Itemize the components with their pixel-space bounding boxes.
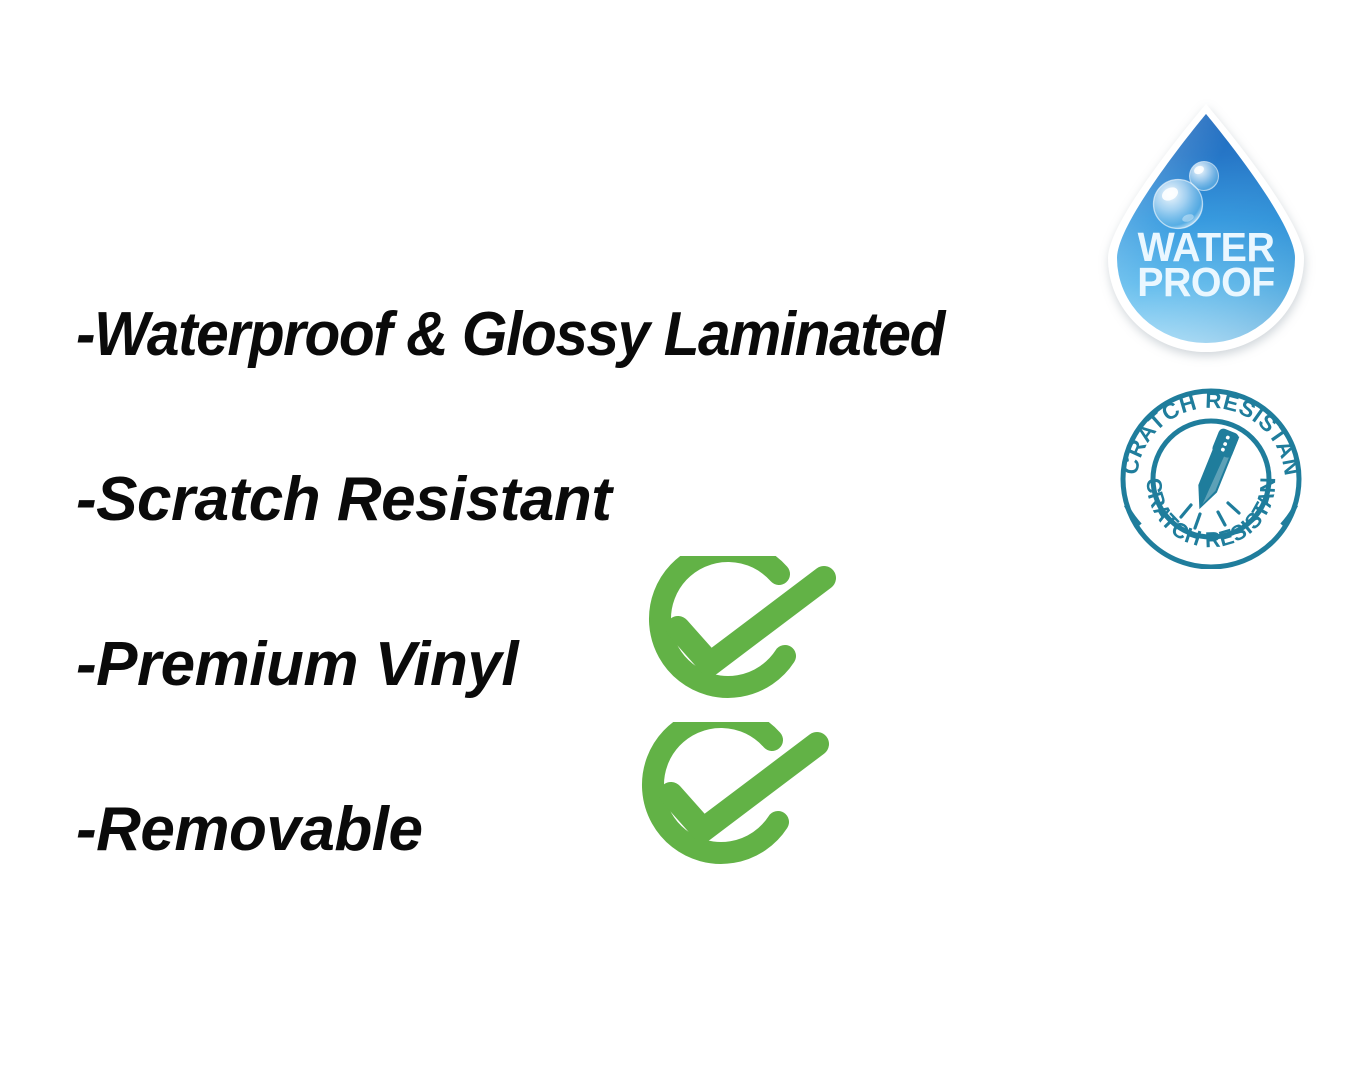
- product-feature-graphic: -Waterproof & Glossy Laminated -Scratch …: [0, 0, 1359, 1080]
- feature-item-waterproof-glossy-laminated: -Waterproof & Glossy Laminated: [76, 252, 1049, 417]
- check-tick: [671, 744, 817, 830]
- water-bubble-large: [1154, 180, 1203, 229]
- scratch-resistant-badge: SCRATCH RESISTANT SCRATCH RESISTANT: [1115, 383, 1307, 569]
- feature-item-removable: -Removable: [76, 747, 1106, 912]
- feature-list: -Waterproof & Glossy Laminated -Scratch …: [76, 252, 1106, 912]
- check-circle-premium-vinyl: [640, 556, 836, 710]
- knife-icon: [1189, 427, 1240, 513]
- feature-item-scratch-resistant: -Scratch Resistant: [76, 417, 1106, 582]
- waterproof-badge: WATER PROOF: [1108, 106, 1304, 352]
- feature-item-premium-vinyl: -Premium Vinyl: [76, 582, 1106, 747]
- drop-body-sheen: [1117, 114, 1295, 343]
- check-circle-removable: [633, 722, 829, 876]
- check-tick: [678, 578, 824, 664]
